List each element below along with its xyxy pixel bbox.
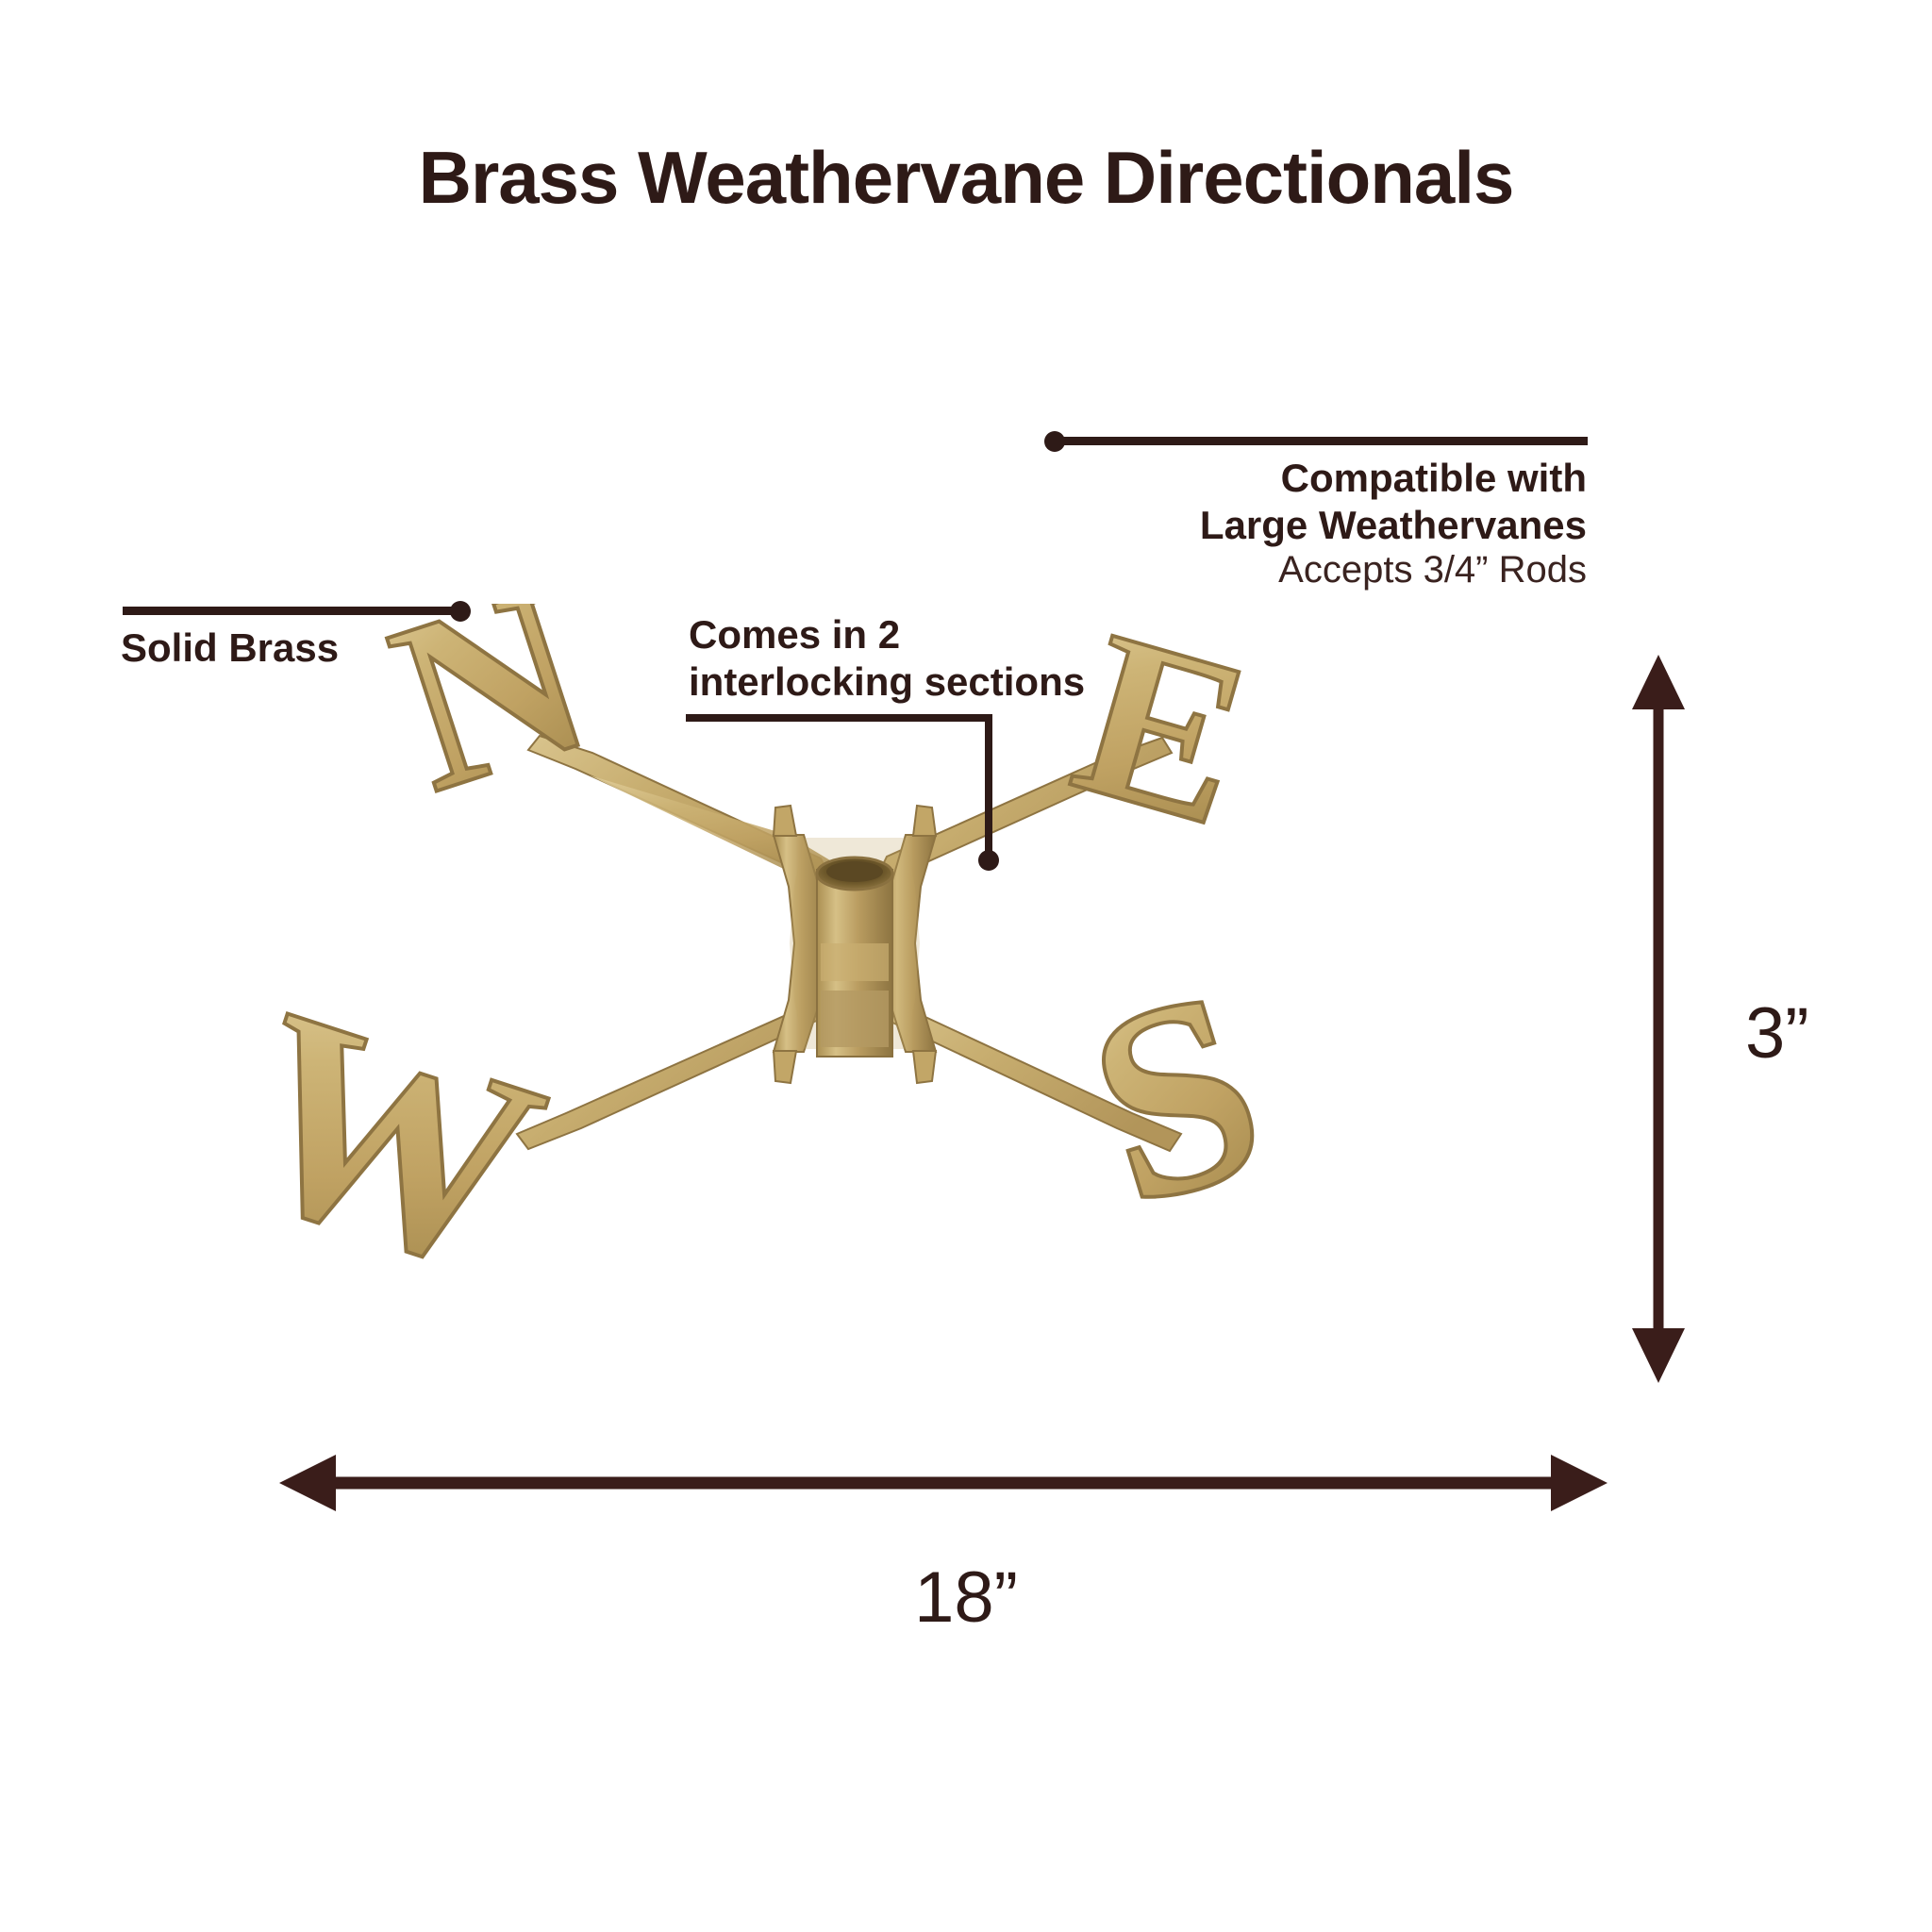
leader-line-sections-vertical bbox=[985, 714, 992, 860]
direction-letter-west: W bbox=[208, 949, 574, 1334]
product-photo-weathervane-directionals: N E W S bbox=[170, 604, 1509, 1434]
leader-dot-solid-brass bbox=[450, 601, 471, 622]
leader-line-sections-horizontal bbox=[686, 714, 992, 722]
callout-compatible-subtitle: Accepts 3/4” Rods bbox=[1123, 548, 1587, 592]
dimension-arrow-width bbox=[274, 1434, 1613, 1538]
callout-compatible: Compatible with Large Weathervanes Accep… bbox=[1123, 455, 1587, 592]
callout-interlocking-sections: Comes in 2 interlocking sections bbox=[689, 611, 1085, 705]
callout-compatible-line2: Large Weathervanes bbox=[1123, 502, 1587, 549]
leader-dot-compatible bbox=[1044, 431, 1065, 452]
page-title: Brass Weathervane Directionals bbox=[0, 140, 1932, 217]
dimension-label-width: 18” bbox=[0, 1557, 1932, 1639]
letter-n-glyph: N bbox=[365, 604, 618, 843]
leader-line-solid-brass bbox=[123, 607, 460, 615]
letter-e-glyph: E bbox=[1052, 604, 1275, 876]
leader-dot-sections bbox=[978, 850, 999, 871]
dimension-label-height: 3” bbox=[1745, 992, 1809, 1074]
direction-letter-east: E bbox=[1052, 604, 1275, 876]
leader-line-compatible bbox=[1055, 437, 1588, 445]
infographic-canvas: Brass Weathervane Directionals bbox=[0, 0, 1932, 1932]
callout-solid-brass: Solid Brass bbox=[121, 625, 339, 672]
letter-w-glyph: W bbox=[208, 949, 574, 1334]
callout-sections-line2: interlocking sections bbox=[689, 658, 1085, 706]
callout-solid-brass-line1: Solid Brass bbox=[121, 625, 339, 672]
callout-sections-line1: Comes in 2 bbox=[689, 611, 1085, 658]
center-hub bbox=[774, 806, 936, 1083]
callout-compatible-line1: Compatible with bbox=[1123, 455, 1587, 502]
dimension-arrow-height bbox=[1604, 651, 1717, 1387]
direction-letter-north: N bbox=[365, 604, 618, 843]
